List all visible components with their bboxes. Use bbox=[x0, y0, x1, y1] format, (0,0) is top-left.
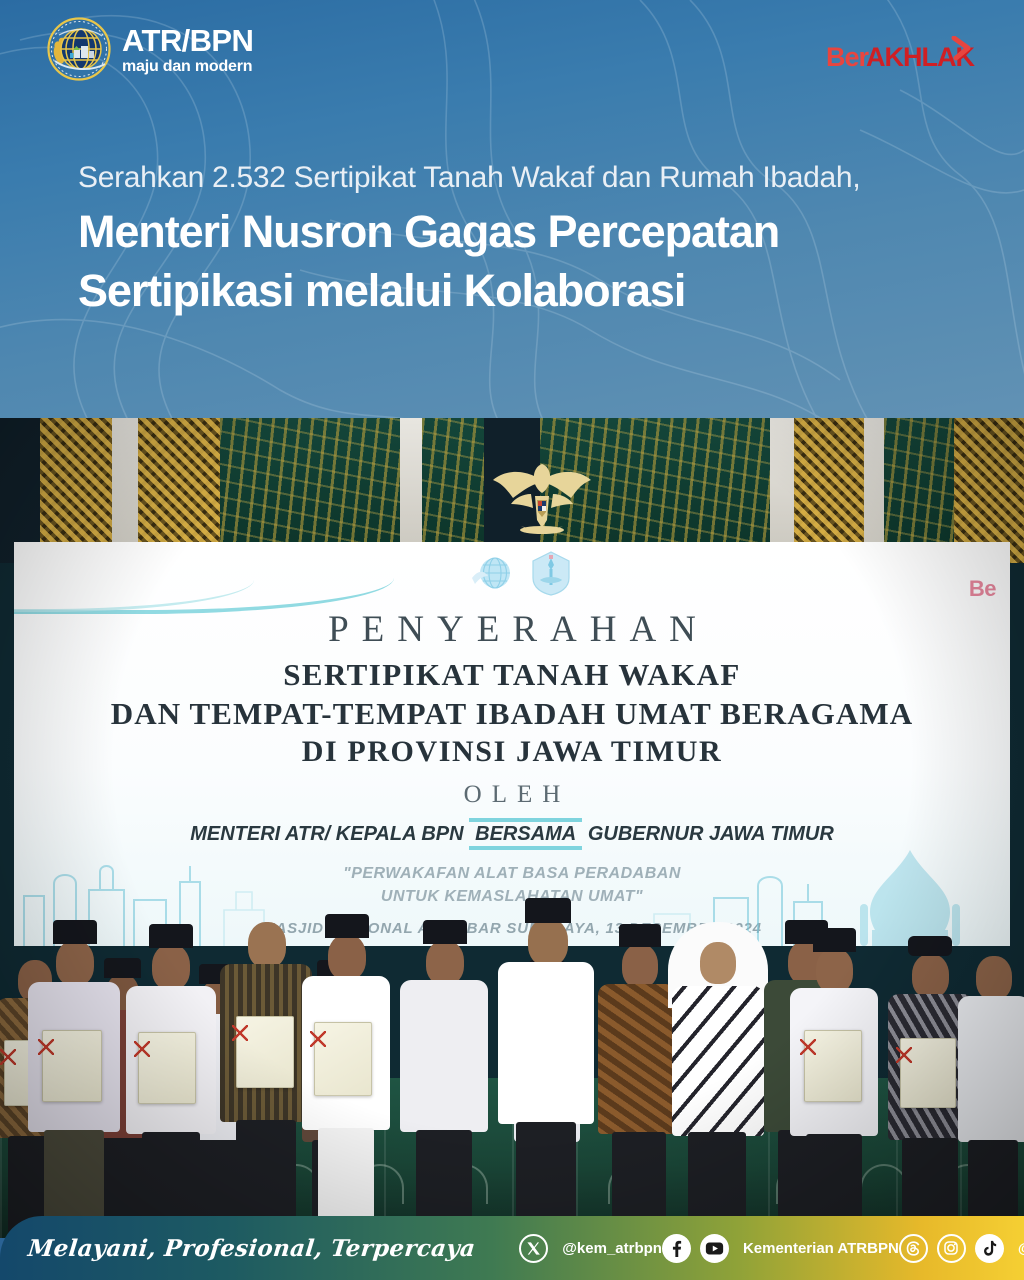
facebook-youtube-handle[interactable]: Kementerian ATRBPN bbox=[743, 1240, 899, 1257]
person-6 bbox=[398, 916, 490, 1238]
footer-tagline: Melayani, Profesional, Terpercaya bbox=[27, 1235, 477, 1262]
youtube-icon[interactable] bbox=[700, 1234, 729, 1263]
people-group bbox=[0, 842, 1024, 1238]
social-group-x: @kem_atrbpn bbox=[519, 1234, 662, 1263]
social-group-meta: Kementerian ATRBPN bbox=[662, 1234, 899, 1263]
headline-kicker: Serahkan 2.532 Sertipikat Tanah Wakaf da… bbox=[78, 160, 978, 196]
banner-line-2: SERTIPIKAT TANAH WAKAF bbox=[14, 657, 1010, 693]
person-minister bbox=[496, 902, 596, 1238]
poster-canvas: ATR/BPN maju dan modern Ber AKHLAK BerAK… bbox=[0, 0, 1024, 1280]
svg-text:Ber: Ber bbox=[826, 42, 870, 72]
person-3 bbox=[124, 920, 218, 1238]
atrbpn-globe-emblem-icon bbox=[47, 17, 111, 81]
logo-tagline: maju dan modern bbox=[122, 59, 253, 75]
banner-berakhlak-logo: Be bbox=[969, 576, 996, 602]
threads-icon[interactable] bbox=[899, 1234, 928, 1263]
atrbpn-logo: ATR/BPN maju dan modern bbox=[47, 17, 253, 81]
person-governor bbox=[670, 910, 766, 1238]
person-9 bbox=[788, 920, 880, 1238]
garuda-pancasila-icon bbox=[487, 450, 597, 546]
instagram-icon[interactable] bbox=[937, 1234, 966, 1263]
person-11 bbox=[956, 926, 1024, 1238]
logo-title: ATR/BPN bbox=[122, 25, 253, 56]
header-banner: ATR/BPN maju dan modern Ber AKHLAK BerAK… bbox=[0, 0, 1024, 424]
headline-block: Serahkan 2.532 Sertipikat Tanah Wakaf da… bbox=[78, 160, 978, 321]
social-group-threads-ig-tiktok: @kementerian.atrbpn bbox=[899, 1234, 1024, 1263]
berakhlak-logo: Ber AKHLAK BerAKHLAK bbox=[826, 36, 976, 76]
x-handle[interactable]: @kem_atrbpn bbox=[562, 1240, 662, 1257]
tiktok-icon[interactable] bbox=[975, 1234, 1004, 1263]
x-twitter-icon[interactable] bbox=[519, 1234, 548, 1263]
person-2 bbox=[26, 918, 122, 1238]
headline-title-line1: Menteri Nusron Gagas Percepatan bbox=[78, 202, 978, 261]
headline-title-line2: Sertipikasi melalui Kolaborasi bbox=[78, 261, 978, 320]
atrbpn-globe-icon bbox=[470, 550, 516, 596]
footer-bar: Melayani, Profesional, Terpercaya @kem_a… bbox=[0, 1216, 1024, 1280]
instagram-handle[interactable]: @kementerian.atrbpn bbox=[1018, 1240, 1024, 1257]
banner-line-4: DI PROVINSI JAWA TIMUR bbox=[14, 735, 1010, 769]
banner-logos bbox=[470, 550, 572, 596]
banner-line-3: DAN TEMPAT-TEMPAT IBADAH UMAT BERAGAMA bbox=[14, 696, 1010, 732]
person-5 bbox=[300, 912, 392, 1238]
event-photo: Be PENYERAHAN SERTIPIKAT TANAH WAKAF DAN… bbox=[0, 418, 1024, 1238]
jawa-timur-emblem-icon bbox=[530, 550, 572, 596]
banner-oleh-label: OLEH bbox=[14, 781, 1010, 809]
banner-line-1: PENYERAHAN bbox=[14, 608, 1010, 651]
facebook-icon[interactable] bbox=[662, 1234, 691, 1263]
